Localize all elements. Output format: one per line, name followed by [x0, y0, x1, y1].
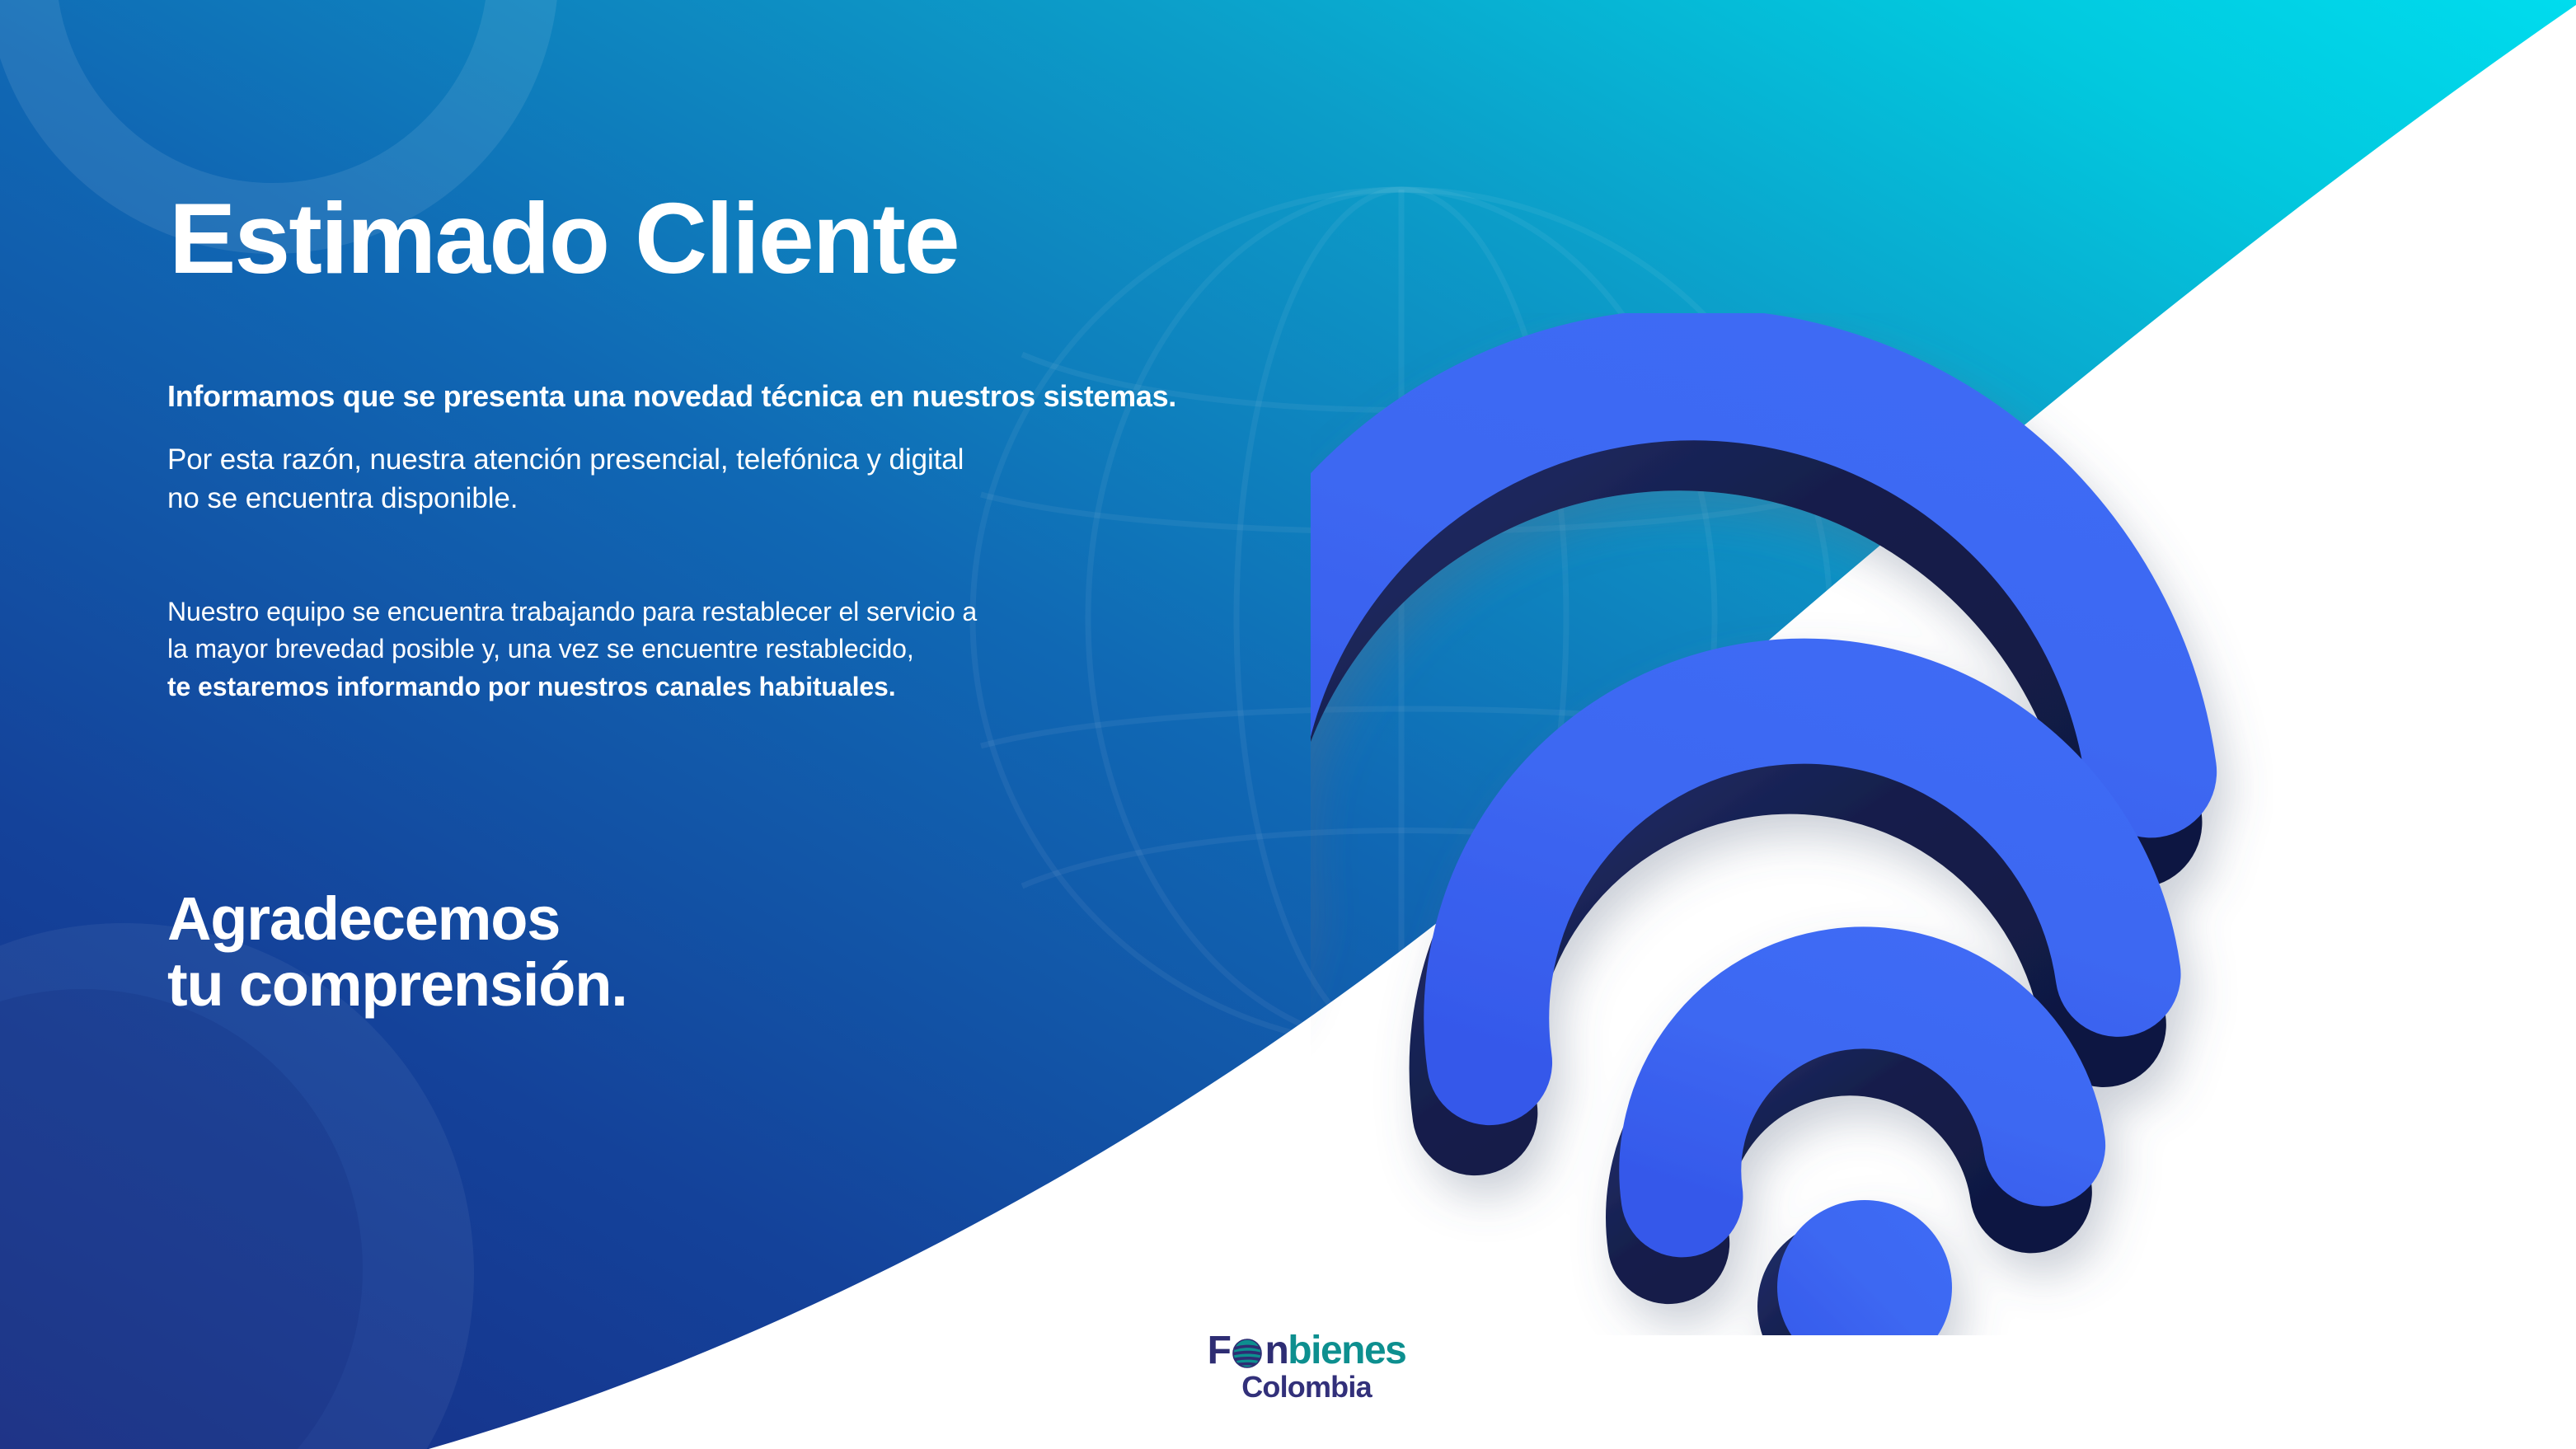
page-title: Estimado Cliente	[169, 188, 959, 288]
poster-canvas: Estimado Cliente Informamos que se prese…	[0, 0, 2576, 1449]
logo-wordmark: F n bienes	[1175, 1331, 1438, 1371]
closing-thanks: Agradecemos tu comprensión.	[167, 886, 627, 1018]
wifi-arc-inner	[1637, 964, 2051, 1243]
logo-letter-f: F	[1208, 1331, 1231, 1371]
lead-statement: Informamos que se presenta una novedad t…	[167, 377, 1176, 415]
logo-word-bienes: bienes	[1288, 1331, 1405, 1371]
message-block: Estimado Cliente Informamos que se prese…	[0, 0, 1566, 1449]
wifi-dot	[1757, 1200, 1952, 1335]
paragraph-restoration-line3: te estaremos informando por nuestros can…	[167, 668, 977, 706]
globe-icon	[1231, 1337, 1264, 1370]
paragraph-restoration-line1: Nuestro equipo se encuentra trabajando p…	[167, 593, 977, 631]
fonbienes-logo: F n bienes Colombia	[1175, 1331, 1438, 1402]
paragraph-availability: Por esta razón, nuestra atención presenc…	[167, 441, 964, 518]
paragraph-restoration-line2: la mayor brevedad posible y, una vez se …	[167, 631, 977, 668]
paragraph-availability-line1: Por esta razón, nuestra atención presenc…	[167, 441, 964, 480]
logo-letter-n: n	[1265, 1331, 1288, 1371]
paragraph-availability-line2: no se encuentra disponible.	[167, 480, 964, 518]
paragraph-restoration: Nuestro equipo se encuentra trabajando p…	[167, 593, 977, 706]
closing-thanks-line2: tu comprensión.	[167, 952, 627, 1018]
closing-thanks-line1: Agradecemos	[167, 886, 627, 952]
logo-country: Colombia	[1175, 1372, 1438, 1402]
